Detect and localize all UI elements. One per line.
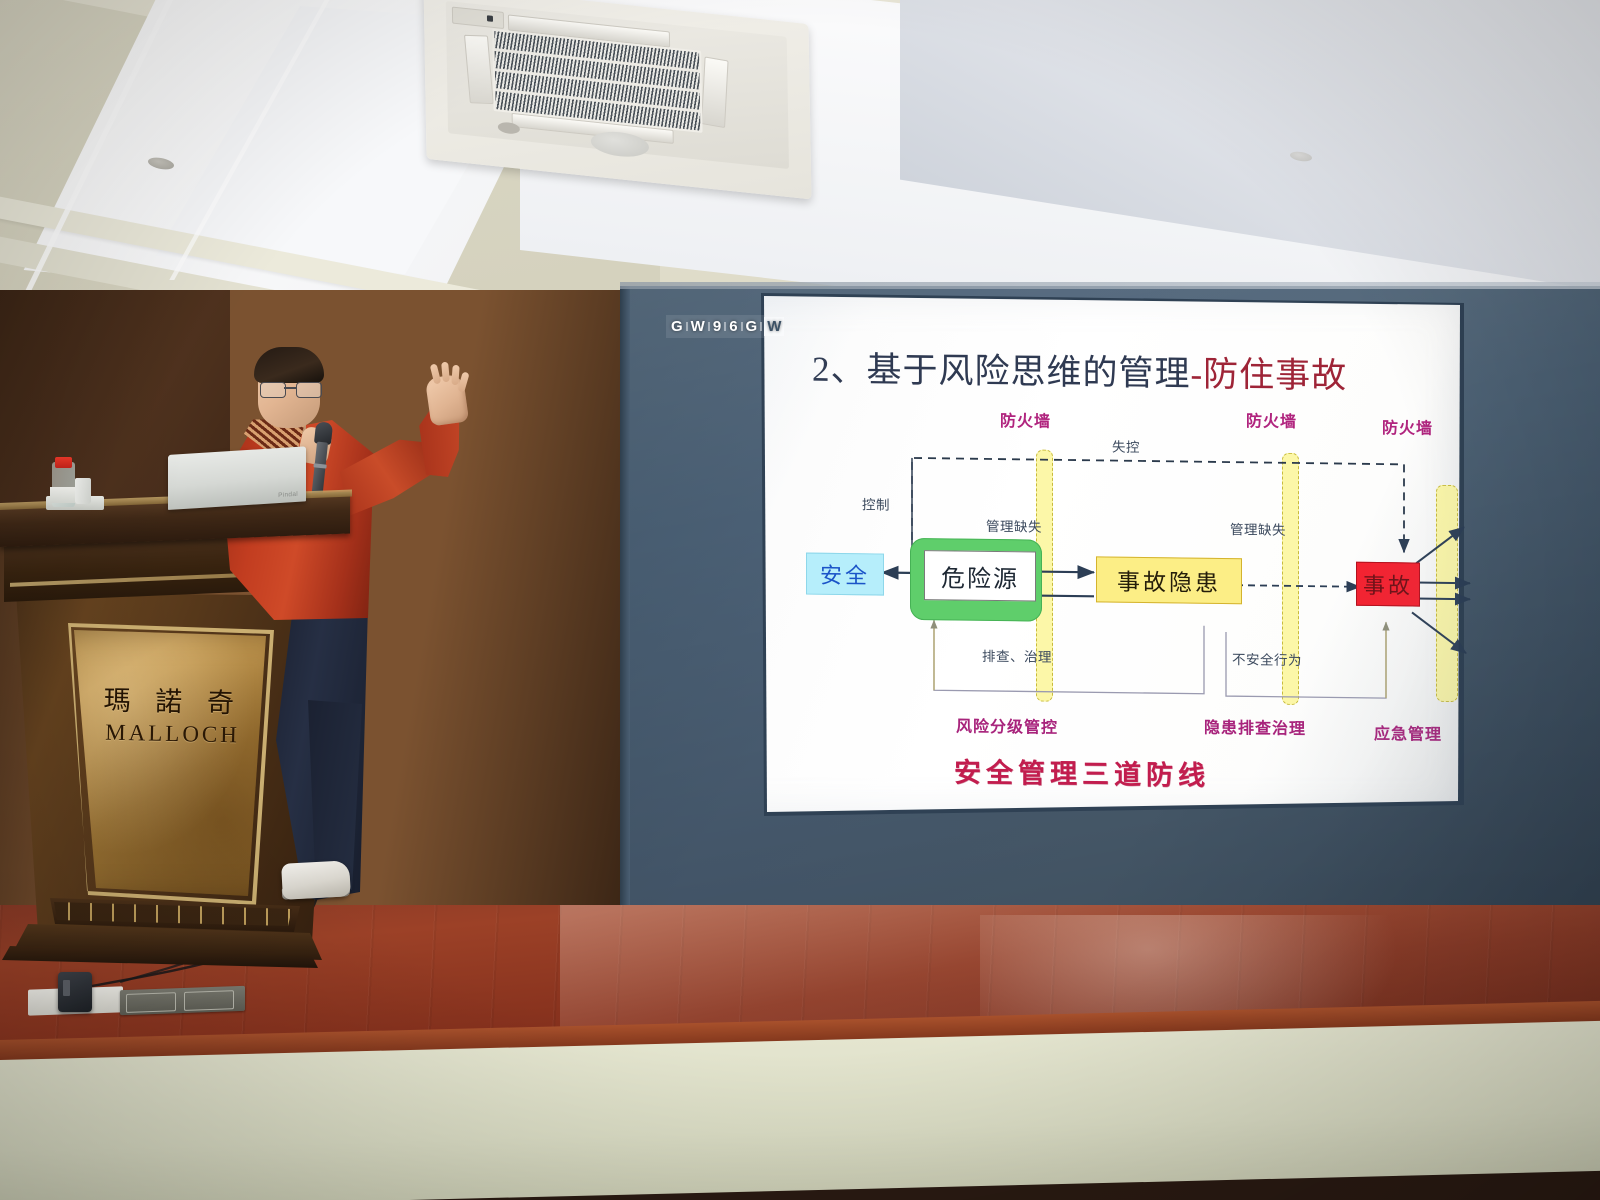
- watermark-char: G: [670, 318, 684, 335]
- slate-wall-edge: [620, 286, 630, 976]
- glasses-lens-right: [296, 382, 322, 398]
- paper-cup: [75, 478, 91, 504]
- watermark-separator-icon: [708, 322, 710, 331]
- presenter-raised-arm: [340, 380, 460, 520]
- watermark-separator-icon: [741, 322, 743, 331]
- glasses-lens-left: [260, 382, 286, 398]
- screenshot-root: G W 9 6 G W 2、基于风险思维的管理-防住事故 防火墙 防火墙 防火墙…: [0, 0, 1600, 1200]
- slate-wall-top-trim: [620, 282, 1600, 289]
- projection-screen-glare: [646, 293, 1464, 816]
- ac-louver-right: [701, 56, 729, 128]
- watermark-separator-icon: [686, 322, 688, 331]
- ac-sensor-dot: [487, 15, 493, 22]
- hand-finger: [451, 365, 459, 385]
- power-socket-icon: [126, 992, 176, 1013]
- floor-outlet-metal-cover: [120, 986, 245, 1015]
- watermark-char: 9: [712, 318, 722, 335]
- podium-brand-logo: 瑪 諾 奇 MALLOCH: [77, 678, 268, 749]
- glasses-bridge: [284, 387, 296, 389]
- presenter-glasses-icon: [260, 382, 320, 397]
- watermark-char: 6: [728, 318, 738, 335]
- watermark-char: G: [745, 318, 759, 335]
- laptop: Pindal: [168, 446, 306, 510]
- power-socket-icon: [184, 990, 234, 1011]
- watermark-separator-icon: [760, 322, 762, 331]
- podium-brand-en: MALLOCH: [77, 719, 268, 749]
- podium-brand-cn: 瑪 諾 奇: [78, 678, 269, 721]
- presenter-shoe: [281, 860, 351, 900]
- watermark-char: W: [690, 318, 706, 335]
- ac-grille-bar: [495, 68, 700, 93]
- ac-grille-bar: [495, 88, 700, 113]
- watermark-separator-icon: [724, 322, 726, 331]
- presenter-hair: [254, 347, 324, 383]
- laptop-brand-label: Pindal: [278, 491, 298, 499]
- power-adapter: [58, 972, 92, 1012]
- water-bottle-label: [50, 487, 78, 503]
- water-bottle-cap: [55, 457, 72, 468]
- ac-grille-bar: [494, 48, 699, 73]
- adapter-indicator-icon: [63, 980, 70, 996]
